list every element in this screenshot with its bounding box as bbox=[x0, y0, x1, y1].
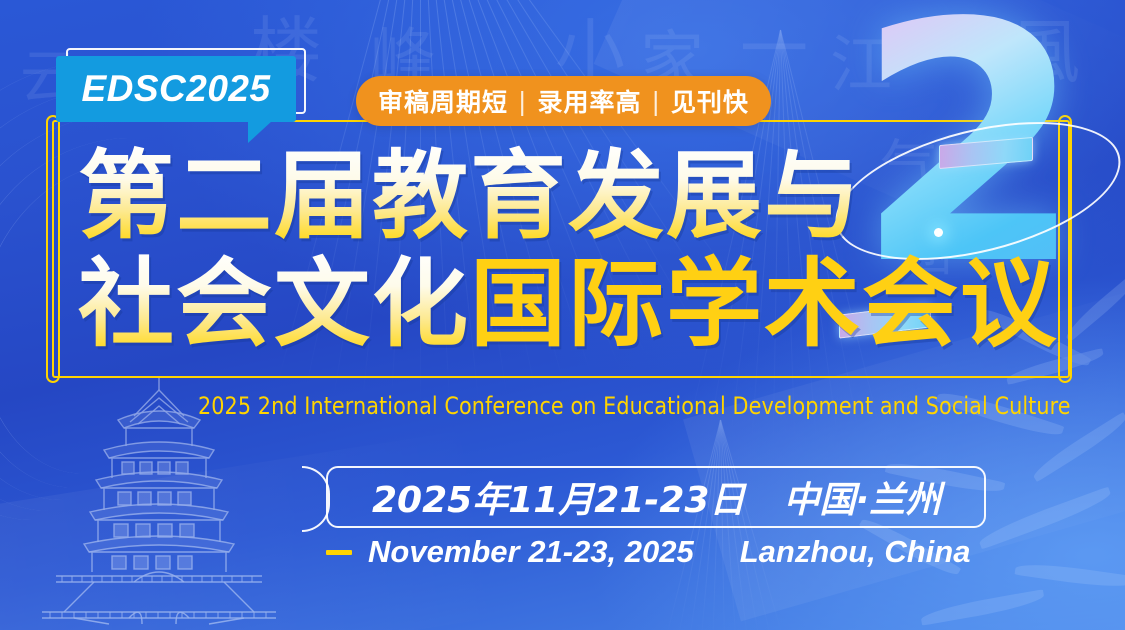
feature-separator-2: | bbox=[651, 87, 660, 116]
date-location-box: 2025年11月21-23日 中国·兰州 bbox=[326, 466, 986, 528]
feature-item-2: 录用率高 bbox=[537, 83, 641, 119]
conference-title: 第二届教育发展与 社会文化国际学术会议 bbox=[78, 142, 1058, 358]
title-line-2-gradient-part: 社会文化 bbox=[78, 248, 470, 360]
location-english: Lanzhou, China bbox=[740, 534, 971, 570]
badge-body: EDSC2025 bbox=[56, 56, 296, 122]
title-line-2-solid-part: 国际学术会议 bbox=[470, 248, 1058, 360]
title-line-1: 第二届教育发展与 bbox=[78, 142, 1058, 250]
english-subtitle: 2025 2nd International Conference on Edu… bbox=[198, 392, 1071, 420]
feature-separator-1: | bbox=[518, 87, 527, 116]
date-english: November 21-23, 2025 bbox=[368, 534, 694, 570]
badge-label: EDSC2025 bbox=[81, 68, 270, 110]
bracket-ornament bbox=[302, 466, 330, 532]
feature-item-1: 审稿周期短 bbox=[378, 83, 508, 119]
title-line-2: 社会文化国际学术会议 bbox=[78, 250, 1058, 358]
dash-ornament bbox=[326, 550, 352, 555]
date-location-english-line: November 21-23, 2025 Lanzhou, China bbox=[326, 534, 970, 570]
date-chinese: 2025年11月21-23日 bbox=[372, 471, 745, 523]
location-chinese: 中国·兰州 bbox=[783, 471, 941, 523]
conference-code-badge[interactable]: EDSC2025 bbox=[56, 56, 296, 122]
feature-highlights-pill: 审稿周期短 | 录用率高 | 见刊快 bbox=[356, 76, 771, 126]
feature-item-3: 见刊快 bbox=[671, 83, 749, 119]
conference-banner: 楼 峰 小 家 一 江 風 云 气 涵 bbox=[0, 0, 1125, 630]
frame-pin-left bbox=[46, 115, 60, 383]
